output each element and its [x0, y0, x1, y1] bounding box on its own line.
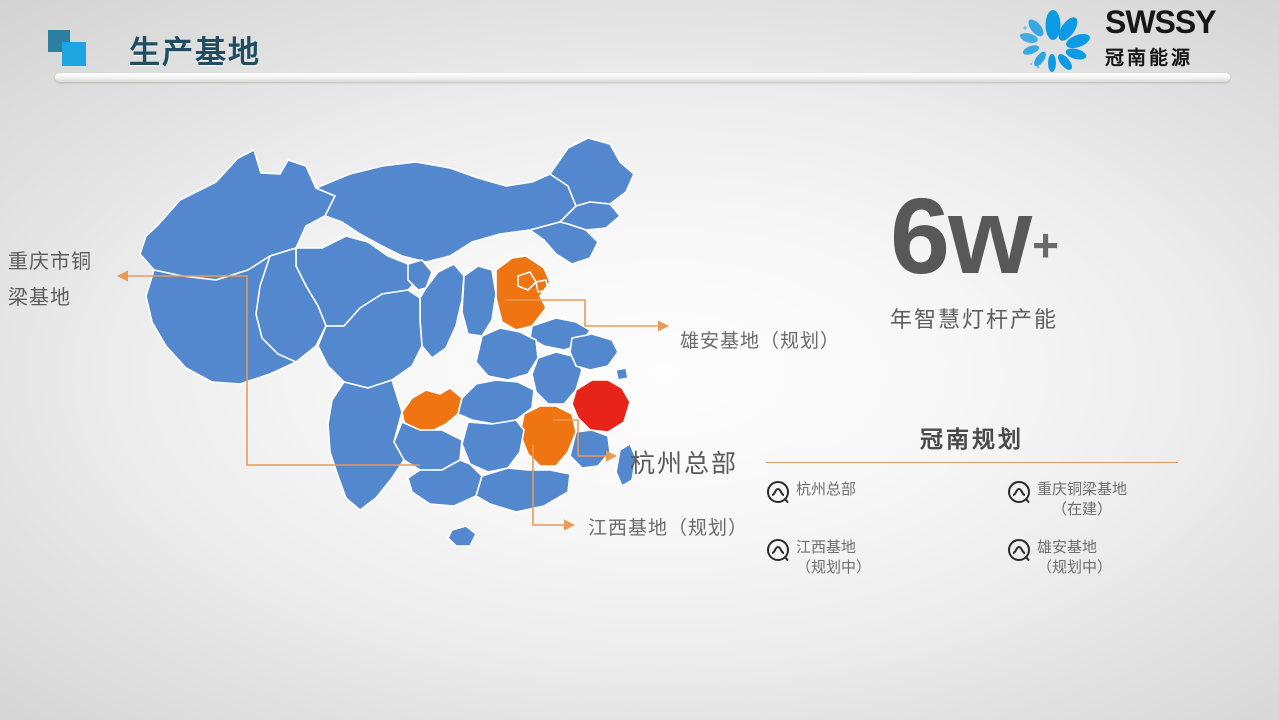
china-map-svg [120, 130, 680, 570]
map-label-chongqing-line1: 重庆市铜 [8, 243, 92, 279]
legend-item-label: 江西基地 （规划中） [796, 537, 871, 577]
province-shanxi [462, 266, 496, 336]
water-droplet-flower-icon [1005, 8, 1101, 72]
legend-label-text: 杭州总部 [796, 480, 856, 498]
province-hainan [448, 526, 476, 546]
wave-circle-icon [766, 538, 790, 567]
map-label-chongqing: 重庆市铜 梁基地 [8, 243, 92, 315]
province-yunnan [328, 380, 404, 510]
legend-divider [766, 462, 1178, 463]
capacity-number-row: 6w+ [890, 185, 1220, 288]
province-jiangxi [520, 406, 576, 466]
map-label-jiangxi: 江西基地（规划） [588, 513, 748, 540]
legend-label-text: 江西基地 [796, 538, 856, 556]
legend-label-sub: （在建） [1037, 499, 1127, 519]
province-henan [476, 328, 538, 380]
legend-label-sub: （规划中） [796, 557, 871, 577]
slide-canvas: 生产基地 [0, 0, 1279, 720]
china-map [120, 130, 680, 570]
province-zhejiang-hq [572, 380, 630, 432]
legend-item-label: 杭州总部 [796, 479, 856, 499]
province-guizhou [394, 422, 462, 470]
legend-label-sub: （规划中） [1037, 557, 1112, 577]
legend-item-hangzhou[interactable]: 杭州总部 [766, 479, 967, 519]
legend-item-chongqing[interactable]: 重庆铜梁基地 （在建） [977, 479, 1178, 519]
municipality-shanghai [616, 368, 628, 380]
province-hebei-xiongan [496, 256, 550, 330]
logo-text-block: SWSSY 冠南能源 [1105, 6, 1216, 70]
legend-title: 冠南规划 [766, 420, 1178, 454]
province-fujian [570, 430, 610, 468]
wave-circle-icon [766, 480, 790, 509]
company-logo: SWSSY 冠南能源 [1005, 4, 1255, 76]
wave-circle-icon [1007, 480, 1031, 509]
slide-header: 生产基地 [0, 0, 1279, 96]
capacity-caption: 年智慧灯杆产能 [890, 302, 1220, 334]
capacity-stat: 6w+ 年智慧灯杆产能 [890, 185, 1220, 334]
page-title: 生产基地 [129, 27, 261, 72]
capacity-plus-sign: + [1032, 219, 1059, 271]
legend-items: 杭州总部 重庆铜梁基地 （在建） 江西基地 （规划 [766, 479, 1178, 577]
legend-item-label: 重庆铜梁基地 （在建） [1037, 479, 1127, 519]
legend-item-xiongan[interactable]: 雄安基地 （规划中） [977, 537, 1178, 577]
logo-wordmark: SWSSY [1105, 6, 1216, 38]
wave-circle-icon [1007, 538, 1031, 567]
province-guangdong [476, 468, 570, 512]
province-jiangsu [570, 334, 618, 370]
map-label-chongqing-line2: 梁基地 [8, 279, 92, 315]
map-label-hangzhou: 杭州总部 [630, 444, 738, 480]
decor-square-light [62, 42, 86, 66]
legend-item-jiangxi[interactable]: 江西基地 （规划中） [766, 537, 967, 577]
legend-item-label: 雄安基地 （规划中） [1037, 537, 1112, 577]
legend-label-text: 雄安基地 [1037, 538, 1097, 556]
legend-label-text: 重庆铜梁基地 [1037, 480, 1127, 498]
logo-chinese-name: 冠南能源 [1105, 43, 1216, 70]
map-label-xiongan: 雄安基地（规划） [680, 326, 840, 353]
plan-legend-panel: 冠南规划 杭州总部 重庆铜梁基地 （在建） [766, 420, 1178, 577]
capacity-number: 6w [890, 175, 1030, 296]
